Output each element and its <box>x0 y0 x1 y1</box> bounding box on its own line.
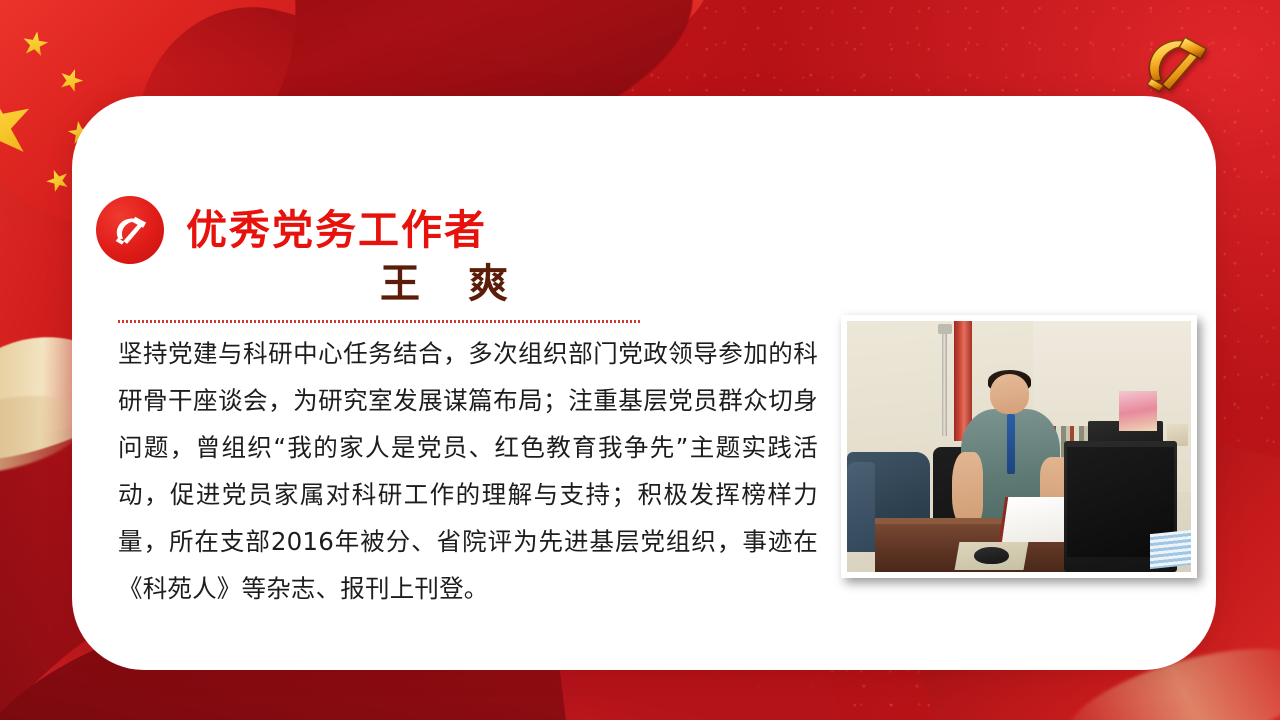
photo-mouse <box>974 547 1008 565</box>
photo-pipe-cap <box>938 324 952 334</box>
page-title: 优秀党务工作者 <box>186 210 487 251</box>
title-row: 优秀党务工作者 <box>96 196 487 264</box>
photo-pipe-thin <box>942 326 948 436</box>
photo-arm-left <box>952 452 983 527</box>
flag-star-small-2 <box>56 65 87 96</box>
photo-sofa-arm <box>847 462 875 552</box>
photo-poster <box>1119 391 1157 431</box>
dotted-divider <box>118 320 642 323</box>
body-paragraph: 坚持党建与科研中心任务结合，多次组织部门党政领导参加的科研骨干座谈会，为研究室发… <box>118 330 818 612</box>
gold-party-emblem-icon <box>1132 26 1218 100</box>
portrait-photo <box>847 321 1191 572</box>
photo-lanyard <box>1007 414 1015 474</box>
flag-star-small-4 <box>43 166 73 196</box>
photo-papers <box>1150 530 1191 569</box>
flag-star-small-1 <box>20 29 50 59</box>
person-name: 王 爽 <box>96 262 512 306</box>
photo-person-head <box>990 374 1030 414</box>
party-emblem-hammer-sickle-icon <box>96 196 164 264</box>
flag-star-large <box>0 83 40 170</box>
portrait-photo-frame <box>841 315 1197 578</box>
